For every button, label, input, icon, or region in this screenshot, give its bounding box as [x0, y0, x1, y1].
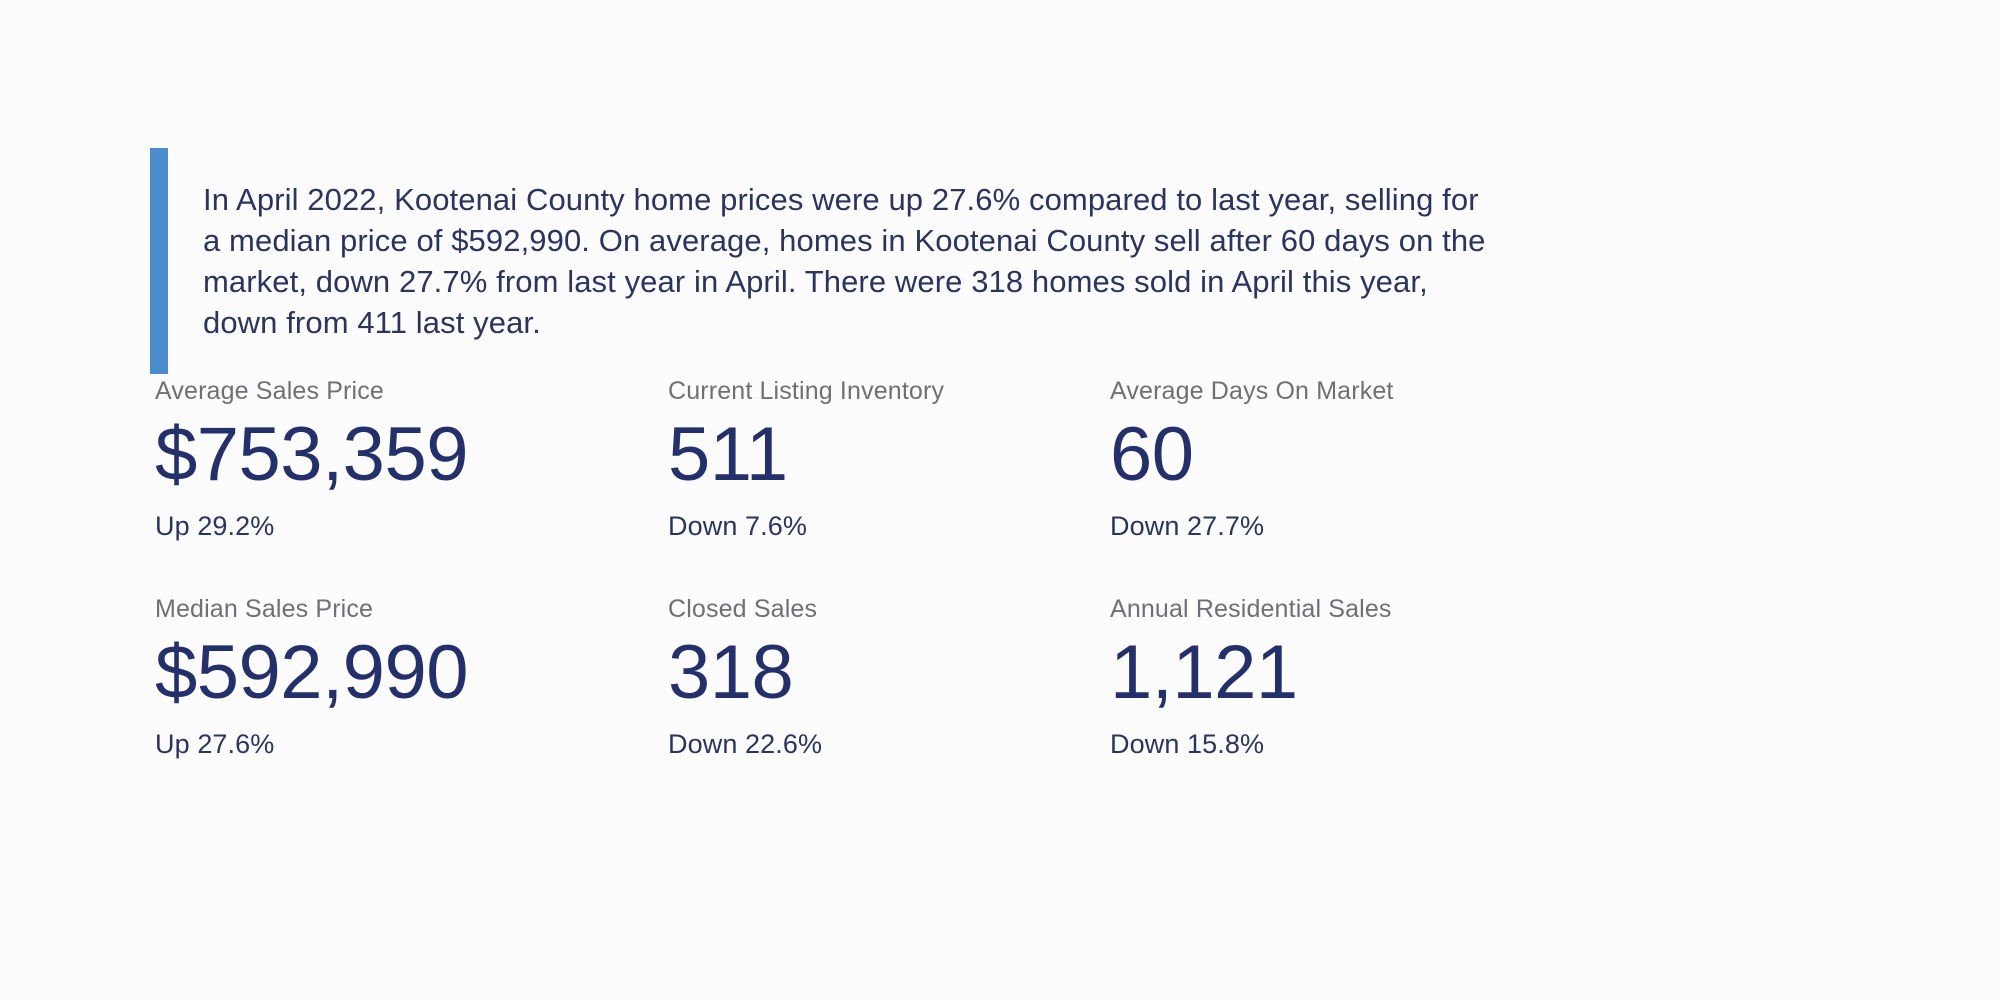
stat-value: 318	[668, 630, 1110, 716]
market-summary-text: In April 2022, Kootenai County home pric…	[203, 179, 1493, 343]
stat-label: Average Sales Price	[155, 376, 668, 406]
stat-value: $592,990	[155, 630, 668, 716]
stat-average-days-on-market: Average Days On Market 60 Down 27.7%	[1110, 376, 1555, 542]
stat-label: Average Days On Market	[1110, 376, 1555, 406]
stat-change: Down 15.8%	[1110, 728, 1555, 760]
stat-value: 60	[1110, 412, 1555, 498]
stat-closed-sales: Closed Sales 318 Down 22.6%	[668, 594, 1110, 760]
stat-value: $753,359	[155, 412, 668, 498]
stat-label: Median Sales Price	[155, 594, 668, 624]
market-report-page: In April 2022, Kootenai County home pric…	[0, 0, 2000, 1000]
stat-change: Down 7.6%	[668, 510, 1110, 542]
accent-bar	[150, 148, 168, 374]
stat-average-sales-price: Average Sales Price $753,359 Up 29.2%	[155, 376, 668, 542]
stat-value: 511	[668, 412, 1110, 498]
stat-value: 1,121	[1110, 630, 1555, 716]
market-summary-callout: In April 2022, Kootenai County home pric…	[150, 148, 1493, 374]
stat-current-listing-inventory: Current Listing Inventory 511 Down 7.6%	[668, 376, 1110, 542]
stat-label: Closed Sales	[668, 594, 1110, 624]
stat-change: Up 29.2%	[155, 510, 668, 542]
stat-label: Current Listing Inventory	[668, 376, 1110, 406]
stat-change: Down 22.6%	[668, 728, 1110, 760]
stat-label: Annual Residential Sales	[1110, 594, 1555, 624]
stat-change: Down 27.7%	[1110, 510, 1555, 542]
stat-annual-residential-sales: Annual Residential Sales 1,121 Down 15.8…	[1110, 594, 1555, 760]
stat-median-sales-price: Median Sales Price $592,990 Up 27.6%	[155, 594, 668, 760]
stats-grid: Average Sales Price $753,359 Up 29.2% Cu…	[155, 376, 1655, 760]
stat-change: Up 27.6%	[155, 728, 668, 760]
